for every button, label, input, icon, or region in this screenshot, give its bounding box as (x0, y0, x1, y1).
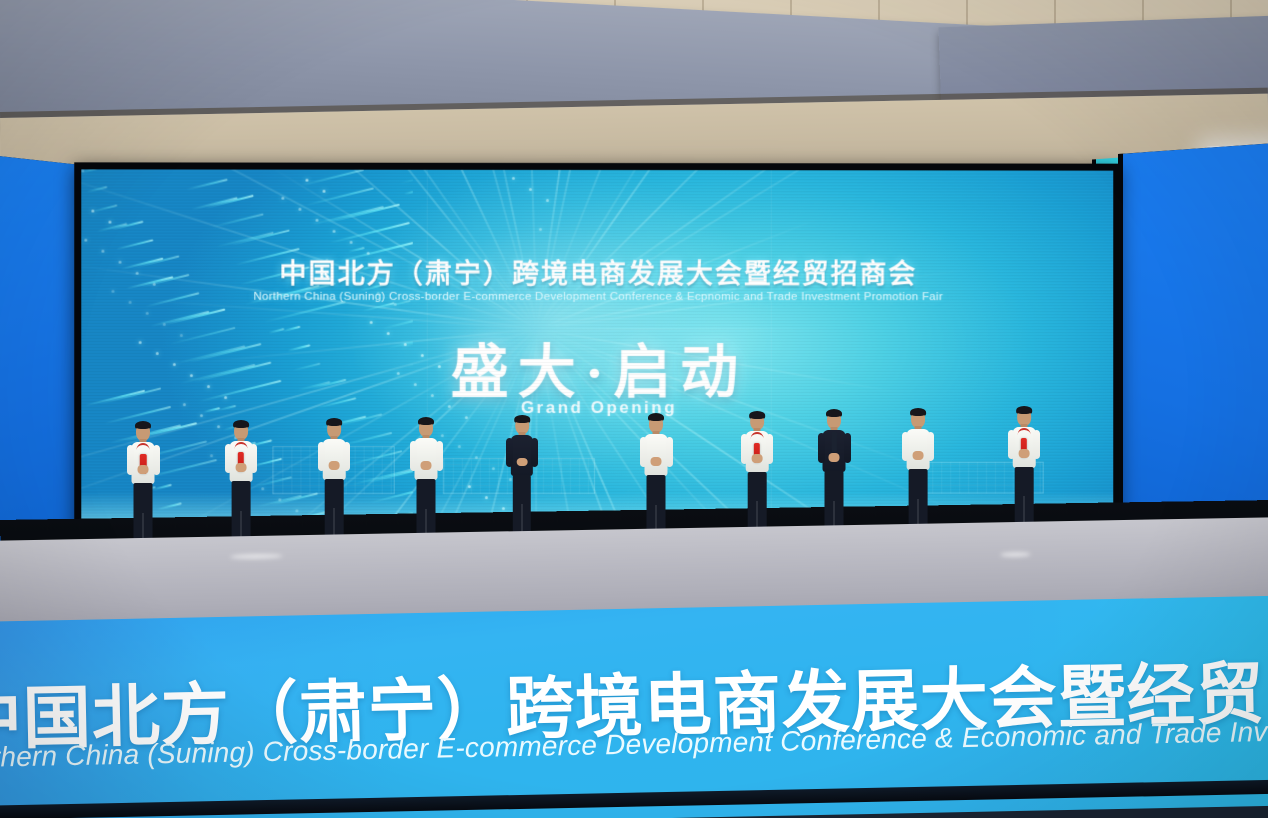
person-figure (125, 421, 161, 553)
person-figure (316, 418, 352, 547)
ceiling (0, 0, 1268, 185)
person-figure (739, 411, 775, 540)
person-clasped-hands (236, 463, 247, 472)
person-arm-right (1033, 430, 1040, 459)
person-hair-top (419, 418, 434, 425)
person-hair-top (234, 421, 249, 428)
person-clasped-hands (752, 454, 763, 463)
person-hair-top (750, 412, 765, 419)
person-clasped-hands (517, 458, 528, 467)
person-arm-left (902, 432, 909, 462)
person-arm-left (818, 433, 825, 463)
person-figure (223, 420, 259, 551)
person-hair-top (136, 422, 151, 429)
person-torso (907, 429, 930, 471)
floor-glint (1000, 552, 1030, 558)
person-clasped-hands (913, 451, 924, 460)
person-arm-right (250, 444, 257, 474)
person-clasped-hands (651, 457, 662, 466)
person-figure (1006, 406, 1042, 535)
person-figure (638, 413, 674, 545)
screen-title-en: Northern China (Suning) Cross-border E-c… (81, 291, 1113, 303)
person-clasped-hands (138, 465, 149, 474)
person-arm-right (666, 437, 673, 467)
person-arm-left (506, 438, 513, 467)
screen-title-cn: 中国北方（肃宁）跨境电商发展大会暨经贸招商会 (81, 252, 1113, 292)
person-torso (645, 434, 668, 476)
person-arm-left (640, 437, 647, 467)
person-arm-left (741, 434, 748, 463)
person-necktie (832, 432, 837, 452)
person-arm-right (436, 441, 443, 471)
person-figure (504, 415, 540, 543)
person-arm-right (927, 432, 934, 462)
person-clasped-hands (829, 453, 840, 462)
person-arm-left (127, 445, 134, 475)
person-figure (816, 409, 852, 541)
person-figure (900, 408, 936, 539)
person-torso (511, 435, 533, 476)
person-figure (408, 417, 444, 549)
person-arm-left (1008, 430, 1015, 459)
person-hair-top (1017, 407, 1032, 414)
person-arm-left (410, 441, 417, 471)
person-hair-top (911, 409, 926, 416)
person-hair-top (515, 416, 530, 423)
person-arm-left (225, 444, 232, 474)
person-arm-right (153, 445, 160, 475)
person-clasped-hands (1019, 449, 1030, 458)
person-hair-top (827, 410, 842, 417)
person-torso (323, 439, 346, 480)
person-arm-left (318, 442, 325, 471)
person-clasped-hands (329, 461, 340, 470)
person-arm-right (844, 433, 851, 463)
person-arm-right (531, 438, 538, 467)
screen-headline-cn: 盛大·启动 (81, 325, 1113, 409)
screen-headline-en: Grand Opening (81, 398, 1113, 418)
photo-scene: 中国北方（肃宁）跨境电商发展大会暨经贸招商会 Northern China (S… (0, 0, 1268, 818)
person-clasped-hands (421, 461, 432, 470)
person-hair-top (649, 414, 664, 421)
person-arm-right (766, 434, 773, 463)
person-torso (415, 438, 438, 480)
floor-glint (230, 553, 282, 559)
person-hair-top (327, 419, 342, 426)
person-arm-right (343, 442, 350, 471)
